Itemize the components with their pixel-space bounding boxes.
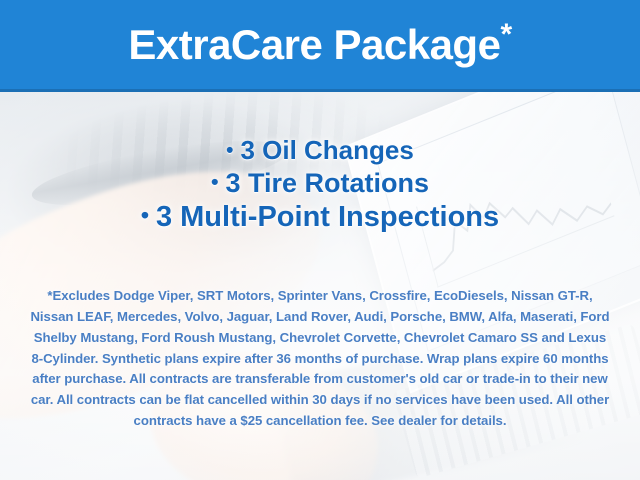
benefits-list: •3 Oil Changes •3 Tire Rotations •3 Mult… (0, 135, 640, 235)
benefit-item-oil-changes: •3 Oil Changes (0, 135, 640, 167)
page-title-text: ExtraCare Package (128, 21, 500, 68)
benefit-label: 3 Multi-Point Inspections (156, 201, 499, 233)
page-title: ExtraCare Package* (128, 24, 511, 66)
benefit-label: 3 Tire Rotations (226, 168, 430, 198)
header-banner: ExtraCare Package* (0, 0, 640, 92)
bullet-point-icon: • (211, 171, 219, 193)
extracare-package-promo-card: ExtraCare Package* •3 Oil Changes •3 Tir… (0, 0, 640, 480)
benefit-label: 3 Oil Changes (240, 135, 413, 165)
page-title-asterisk: * (500, 18, 511, 51)
bullet-point-icon: • (141, 204, 149, 227)
bullet-point-icon: • (226, 141, 233, 162)
benefit-item-multi-point-inspections: •3 Multi-Point Inspections (0, 200, 640, 235)
benefit-item-tire-rotations: •3 Tire Rotations (0, 167, 640, 200)
disclaimer-text: *Excludes Dodge Viper, SRT Motors, Sprin… (28, 286, 612, 432)
